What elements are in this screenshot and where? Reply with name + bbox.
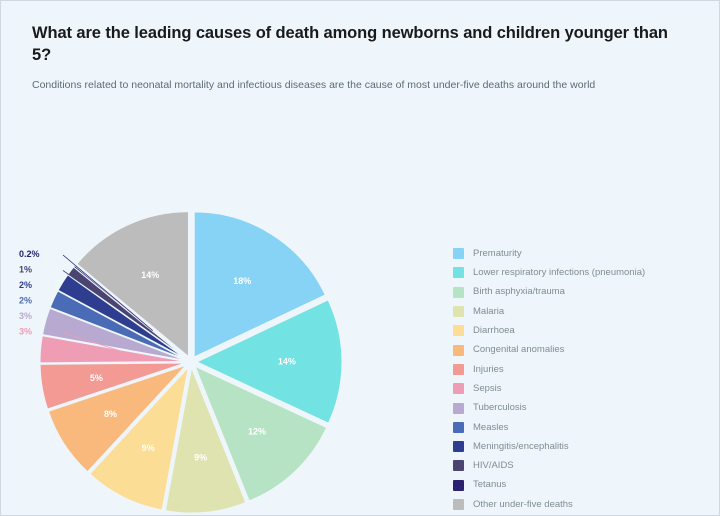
legend-swatch-icon bbox=[453, 267, 464, 278]
legend-item-label: Prematurity bbox=[473, 249, 522, 259]
legend-swatch-icon bbox=[453, 364, 464, 375]
legend-item[interactable]: Tuberculosis bbox=[453, 398, 703, 417]
legend-swatch-icon bbox=[453, 499, 464, 510]
legend-item[interactable]: Lower respiratory infections (pneumonia) bbox=[453, 263, 703, 282]
pie-slice-label: 14% bbox=[141, 270, 159, 280]
pie-chart-svg: 0.2%1%2%2%3%3% 18%14%12%9%9%8%5%14% bbox=[1, 105, 451, 516]
legend-swatch-icon bbox=[453, 403, 464, 414]
legend-swatch-icon bbox=[453, 441, 464, 452]
legend-item[interactable]: Birth asphyxia/trauma bbox=[453, 283, 703, 302]
legend-item[interactable]: Sepsis bbox=[453, 379, 703, 398]
chart-legend: PrematurityLower respiratory infections … bbox=[453, 244, 703, 514]
pie-slice-label: 14% bbox=[278, 357, 296, 367]
legend-item[interactable]: Measles bbox=[453, 418, 703, 437]
legend-item-label: Tetanus bbox=[473, 480, 506, 490]
pie-callout-label: 1% bbox=[19, 265, 32, 275]
legend-swatch-icon bbox=[453, 345, 464, 356]
legend-item[interactable]: Injuries bbox=[453, 360, 703, 379]
legend-item-label: Sepsis bbox=[473, 384, 502, 394]
legend-item-label: Malaria bbox=[473, 307, 504, 317]
legend-item-label: Measles bbox=[473, 423, 508, 433]
legend-swatch-icon bbox=[453, 480, 464, 491]
legend-item[interactable]: Diarrhoea bbox=[453, 321, 703, 340]
legend-swatch-icon bbox=[453, 306, 464, 317]
legend-swatch-icon bbox=[453, 383, 464, 394]
legend-swatch-icon bbox=[453, 248, 464, 259]
legend-item-label: Lower respiratory infections (pneumonia) bbox=[473, 268, 645, 278]
chart-page: What are the leading causes of death amo… bbox=[0, 0, 720, 516]
legend-item-label: Diarrhoea bbox=[473, 326, 515, 336]
legend-swatch-icon bbox=[453, 287, 464, 298]
legend-item[interactable]: Meningitis/encephalitis bbox=[453, 437, 703, 456]
legend-item-label: Meningitis/encephalitis bbox=[473, 442, 569, 452]
legend-item-label: Other under-five deaths bbox=[473, 500, 573, 510]
legend-item-label: Injuries bbox=[473, 365, 504, 375]
pie-slice-label: 9% bbox=[142, 443, 155, 453]
pie-slice-label: 5% bbox=[90, 373, 103, 383]
chart-header: What are the leading causes of death amo… bbox=[32, 23, 682, 93]
pie-callout-label: 2% bbox=[19, 280, 32, 290]
pie-slice-label: 8% bbox=[104, 409, 117, 419]
pie-slice-label: 18% bbox=[233, 276, 251, 286]
legend-swatch-icon bbox=[453, 460, 464, 471]
legend-item[interactable]: Prematurity bbox=[453, 244, 703, 263]
legend-item-label: Congenital anomalies bbox=[473, 345, 564, 355]
legend-item[interactable]: Other under-five deaths bbox=[453, 495, 703, 514]
legend-item[interactable]: Tetanus bbox=[453, 476, 703, 495]
legend-item[interactable]: Malaria bbox=[453, 302, 703, 321]
page-title: What are the leading causes of death amo… bbox=[32, 23, 682, 67]
pie-slice-label: 12% bbox=[248, 427, 266, 437]
chart-subtitle: Conditions related to neonatal mortality… bbox=[32, 78, 672, 93]
legend-swatch-icon bbox=[453, 325, 464, 336]
pie-callout-label: 2% bbox=[19, 296, 32, 306]
legend-item[interactable]: HIV/AIDS bbox=[453, 456, 703, 475]
legend-item-label: Tuberculosis bbox=[473, 403, 527, 413]
legend-item-label: HIV/AIDS bbox=[473, 461, 514, 471]
pie-callout-label: 3% bbox=[19, 327, 32, 337]
pie-callout-label: 0.2% bbox=[19, 249, 40, 259]
pie-chart: 0.2%1%2%2%3%3% 18%14%12%9%9%8%5%14% bbox=[1, 105, 451, 516]
legend-item-label: Birth asphyxia/trauma bbox=[473, 287, 565, 297]
pie-slice-label: 9% bbox=[194, 452, 207, 462]
pie-callout-label: 3% bbox=[19, 311, 32, 321]
pie-slice-layer bbox=[40, 212, 342, 513]
legend-item[interactable]: Congenital anomalies bbox=[453, 340, 703, 359]
legend-swatch-icon bbox=[453, 422, 464, 433]
